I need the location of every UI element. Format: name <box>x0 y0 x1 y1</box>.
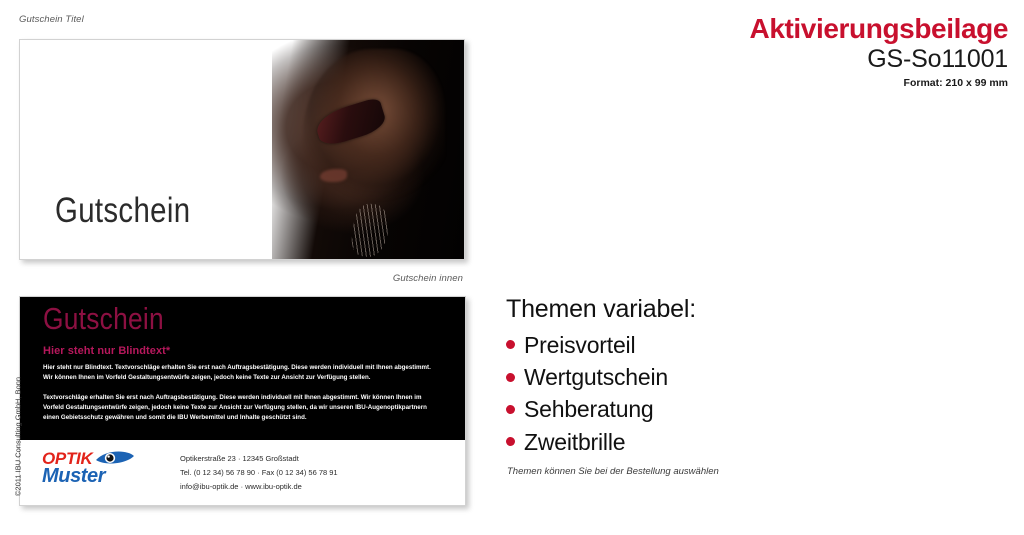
contact-email-web: info@ibu-optik.de · www.ibu-optik.de <box>180 480 338 494</box>
inner-paragraph-2: Textvorschläge erhalten Sie erst nach Au… <box>43 393 439 423</box>
theme-item-preisvorteil[interactable]: Preisvorteil <box>506 330 966 360</box>
caption-gutschein-titel: Gutschein Titel <box>19 14 84 25</box>
logo-word-muster: Muster <box>42 466 162 487</box>
theme-label: Wertgutschein <box>524 362 668 392</box>
contact-phone-fax: Tel. (0 12 34) 56 78 90 · Fax (0 12 34) … <box>180 466 338 480</box>
theme-item-zweitbrille[interactable]: Zweitbrille <box>506 427 966 457</box>
bullet-icon <box>506 373 515 382</box>
contact-address: Optikerstraße 23 · 12345 Großstadt <box>180 452 338 466</box>
inner-subheading: Hier steht nur Blindtext* <box>43 345 170 357</box>
format-spec: Format: 210 x 99 mm <box>600 77 1008 89</box>
card-gutschein-innen[interactable]: Gutschein Hier steht nur Blindtext* Hier… <box>19 296 466 506</box>
inner-heading: Gutschein <box>43 301 164 337</box>
lips-shape <box>320 169 347 182</box>
eye-icon <box>95 451 135 466</box>
card-gutschein-titel[interactable]: Gutschein <box>19 39 465 260</box>
themes-block: Themen variabel: Preisvorteil Wertgutsch… <box>506 296 966 477</box>
inner-paragraph-1: Hier steht nur Blindtext. Textvorschläge… <box>43 363 439 383</box>
theme-label: Zweitbrille <box>524 427 625 457</box>
themes-title: Themen variabel: <box>506 296 966 324</box>
bullet-icon <box>506 340 515 349</box>
inner-black-panel: Gutschein Hier steht nur Blindtext* Hier… <box>20 297 465 440</box>
woman-profile-sunglasses-photo <box>272 40 464 259</box>
copyright-notice: ©2011 IBU Consulting GmbH, Bonn <box>14 367 23 507</box>
bullet-icon <box>506 437 515 446</box>
theme-item-sehberatung[interactable]: Sehberatung <box>506 394 966 424</box>
page-title: Aktivierungsbeilage <box>600 14 1008 43</box>
theme-item-wertgutschein[interactable]: Wertgutschein <box>506 362 966 392</box>
product-code: GS-So11001 <box>600 45 1008 74</box>
themes-note: Themen können Sie bei der Bestellung aus… <box>507 466 966 477</box>
bullet-icon <box>506 405 515 414</box>
theme-label: Preisvorteil <box>524 330 635 360</box>
caption-gutschein-innen: Gutschein innen <box>286 273 463 284</box>
card-title-word: Gutschein <box>55 191 190 231</box>
inner-footer: OPTIK Muster Optikerstraße 23 · 12345 Gr… <box>20 440 465 505</box>
theme-label: Sehberatung <box>524 394 654 424</box>
optik-muster-logo[interactable]: OPTIK Muster <box>42 450 162 487</box>
contact-block: Optikerstraße 23 · 12345 Großstadt Tel. … <box>180 452 338 494</box>
header-block: Aktivierungsbeilage GS-So11001 Format: 2… <box>600 14 1008 89</box>
